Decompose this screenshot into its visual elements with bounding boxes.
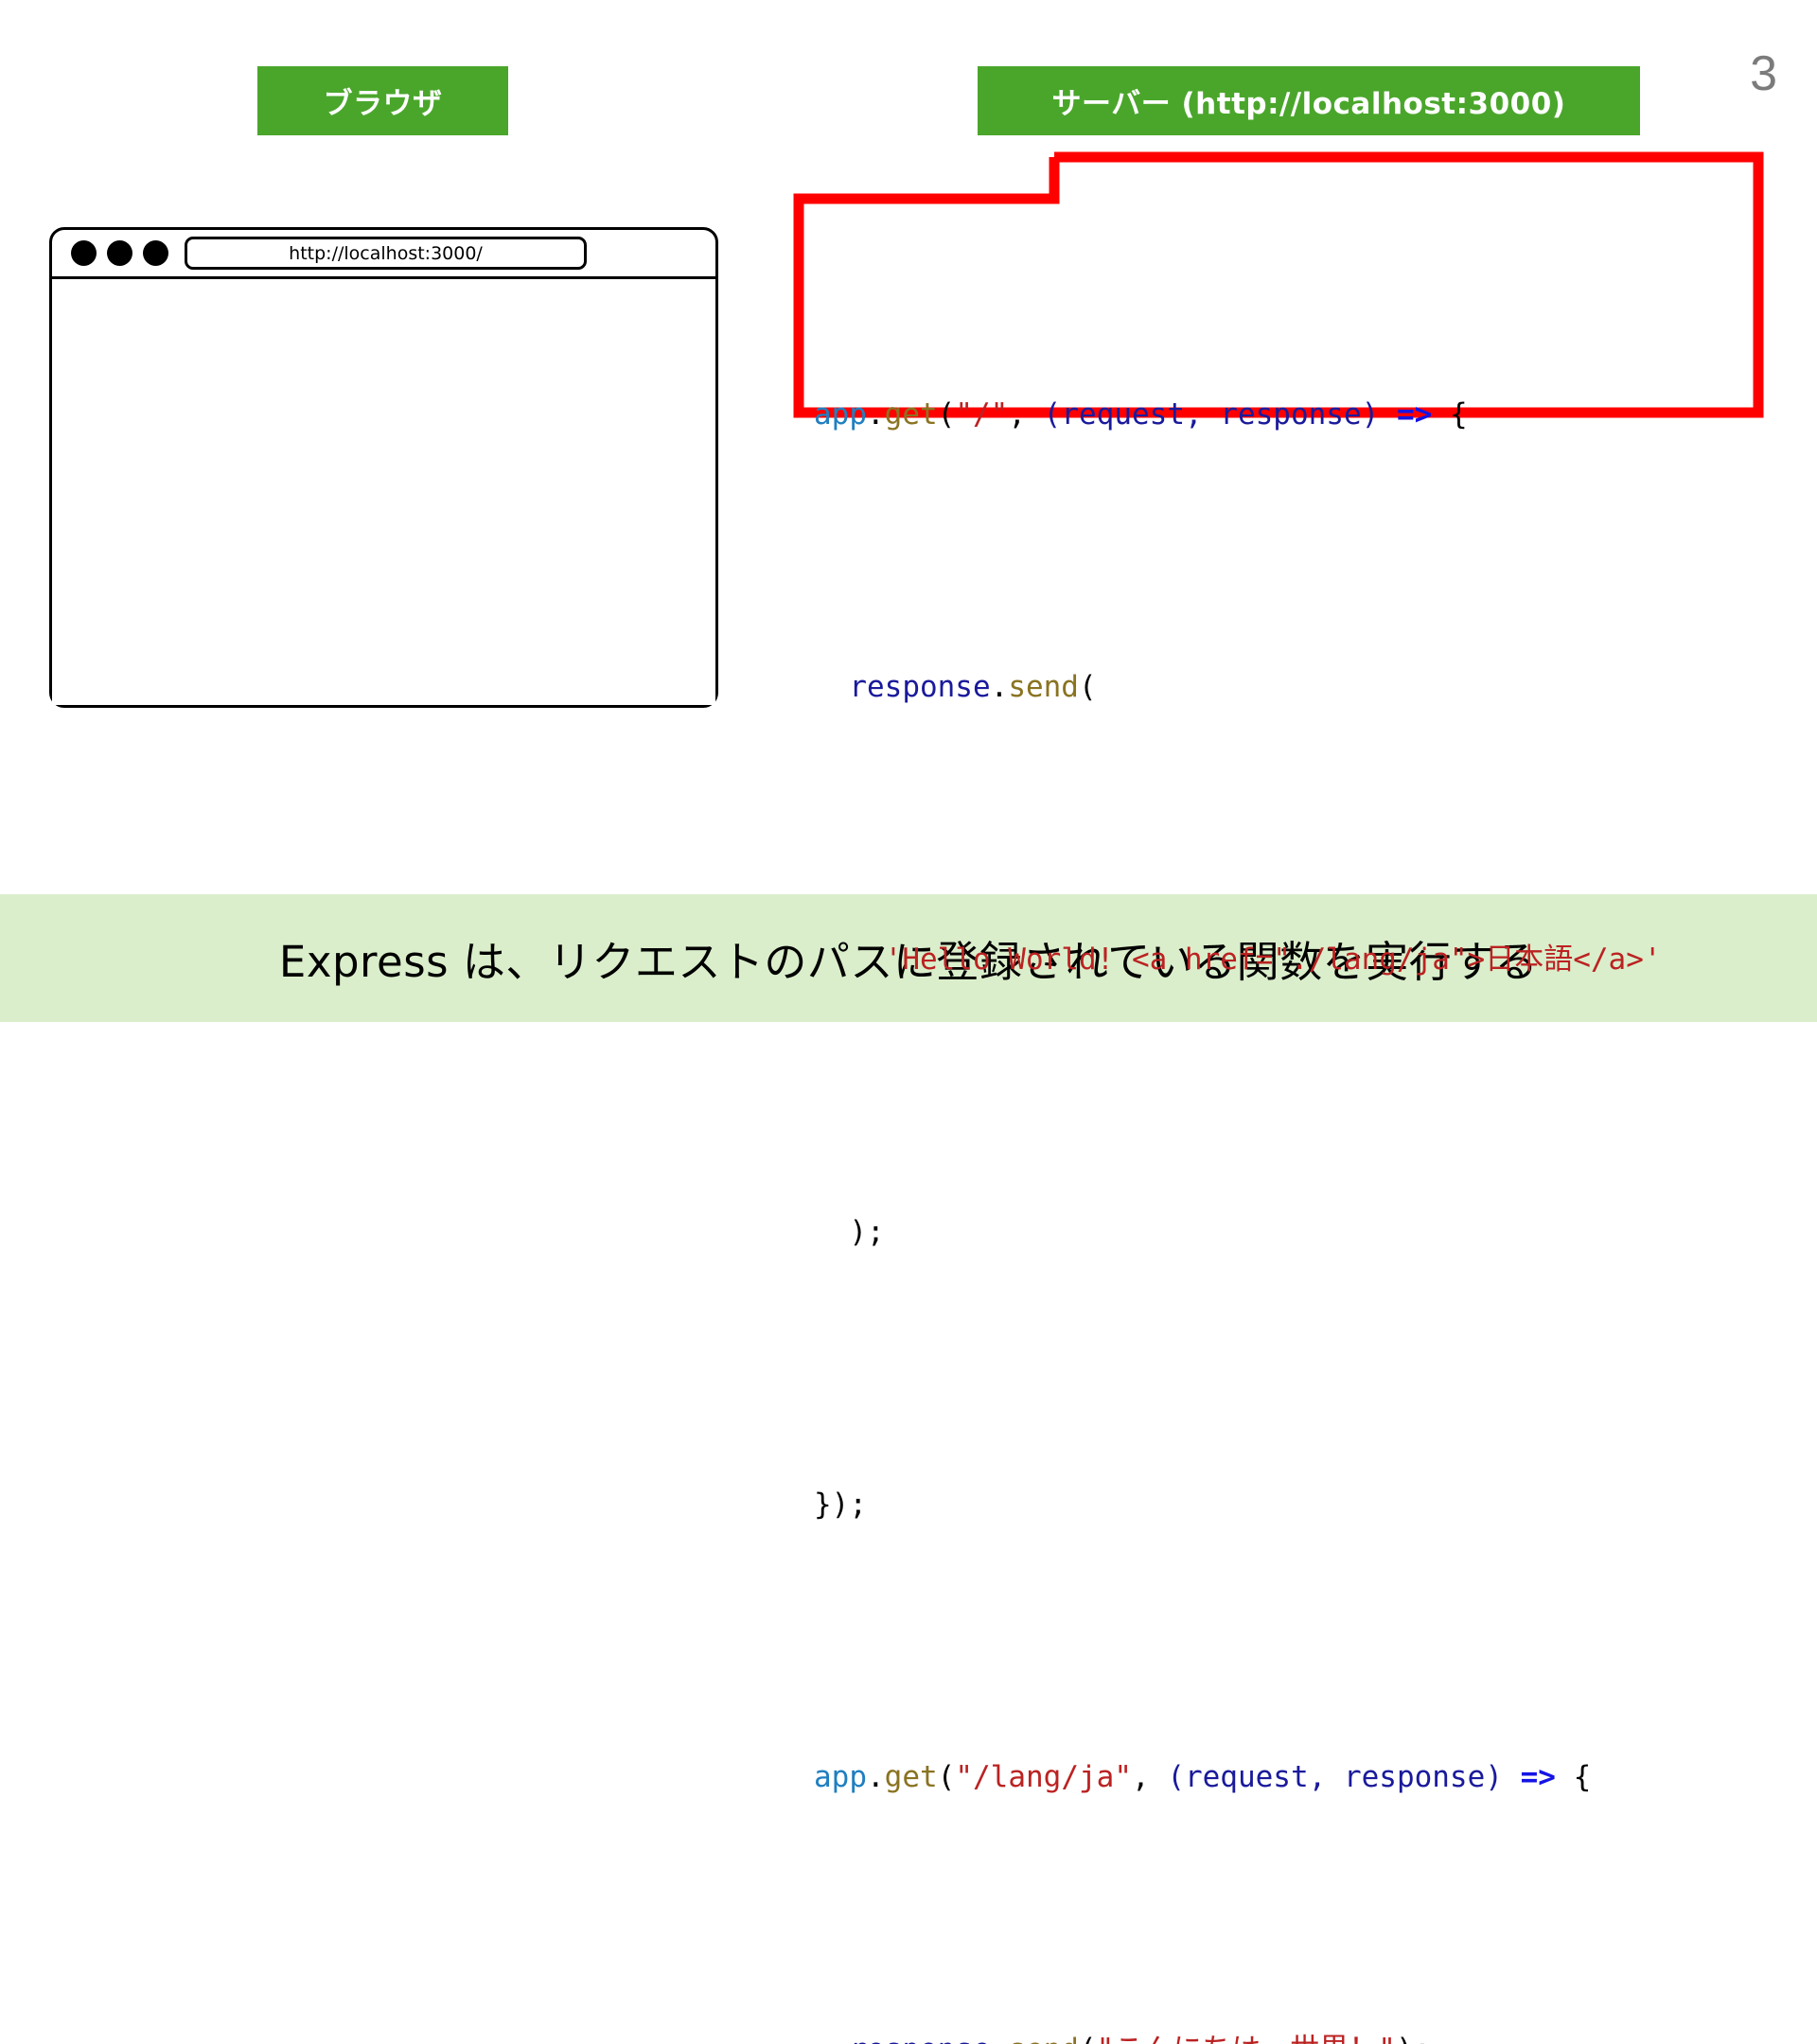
code-token-route-path: "/" — [955, 397, 1008, 432]
code-token-response: response — [849, 670, 990, 704]
code-token-paren-open: ( — [938, 1760, 956, 1794]
code-token-japanese-string: "こんにちは、世界！" — [1097, 2033, 1396, 2044]
server-code-block: app.get("/", (request, response) => { re… — [814, 176, 1662, 2044]
browser-section-header: ブラウザ — [257, 66, 508, 135]
code-token-brace-open: { — [1450, 397, 1468, 432]
code-token-callback-params: (request, response) — [1044, 397, 1380, 432]
code-token-close-send: ); — [1396, 2033, 1431, 2044]
browser-url-text: http://localhost:3000/ — [289, 243, 483, 264]
window-dot-maximize-icon[interactable] — [143, 240, 168, 266]
browser-viewport — [52, 279, 715, 705]
server-section-header: サーバー (http://localhost:3000) — [978, 66, 1640, 135]
code-token-paren-open: ( — [1079, 670, 1097, 704]
code-token-dot: . — [991, 2033, 1009, 2044]
code-token-html-string: 'Hello World! <a href="./lang/ja">日本語</a… — [885, 943, 1662, 977]
code-token-callback-params: (request, response) — [1167, 1760, 1503, 1794]
browser-window-mockup: http://localhost:3000/ — [49, 227, 718, 708]
window-control-dots — [71, 240, 168, 266]
code-token-get: get — [885, 1760, 938, 1794]
code-token-send: send — [1008, 670, 1079, 704]
code-token-comma: , — [1008, 397, 1043, 432]
code-indent — [814, 2033, 849, 2044]
page-number: 3 — [1750, 49, 1777, 98]
code-line-2: response.send( — [814, 653, 1662, 721]
browser-url-input[interactable]: http://localhost:3000/ — [185, 237, 587, 270]
code-token-close-send: ); — [814, 1215, 885, 1249]
code-line-1: app.get("/", (request, response) => { — [814, 380, 1662, 449]
code-token-dot: . — [867, 1760, 885, 1794]
code-token-brace-open: { — [1574, 1760, 1592, 1794]
code-line-7: response.send("こんにちは、世界！"); — [814, 2016, 1662, 2044]
code-token-paren-open: ( — [938, 397, 956, 432]
code-token-close-route: }); — [814, 1488, 867, 1522]
code-token-send: send — [1008, 2033, 1079, 2044]
code-token-app: app — [814, 1760, 867, 1794]
browser-chrome: http://localhost:3000/ — [52, 230, 715, 279]
window-dot-minimize-icon[interactable] — [107, 240, 132, 266]
code-token-route-path: "/lang/ja" — [955, 1760, 1132, 1794]
window-dot-close-icon[interactable] — [71, 240, 97, 266]
code-token-arrow: => — [1379, 397, 1450, 432]
code-line-4: ); — [814, 1198, 1662, 1266]
code-token-response: response — [849, 2033, 990, 2044]
code-token-dot: . — [991, 670, 1009, 704]
code-line-6: app.get("/lang/ja", (request, response) … — [814, 1743, 1662, 1811]
code-token-app: app — [814, 397, 867, 432]
code-indent — [814, 943, 885, 977]
code-token-dot: . — [867, 397, 885, 432]
server-section-label: サーバー (http://localhost:3000) — [1052, 79, 1566, 122]
code-line-3: 'Hello World! <a href="./lang/ja">日本語</a… — [814, 925, 1662, 994]
code-token-comma: , — [1132, 1760, 1167, 1794]
code-token-get: get — [885, 397, 938, 432]
code-token-arrow: => — [1503, 1760, 1574, 1794]
code-indent — [814, 670, 849, 704]
code-line-5: }); — [814, 1471, 1662, 1539]
browser-section-label: ブラウザ — [324, 79, 443, 122]
code-token-paren-open: ( — [1079, 2033, 1097, 2044]
